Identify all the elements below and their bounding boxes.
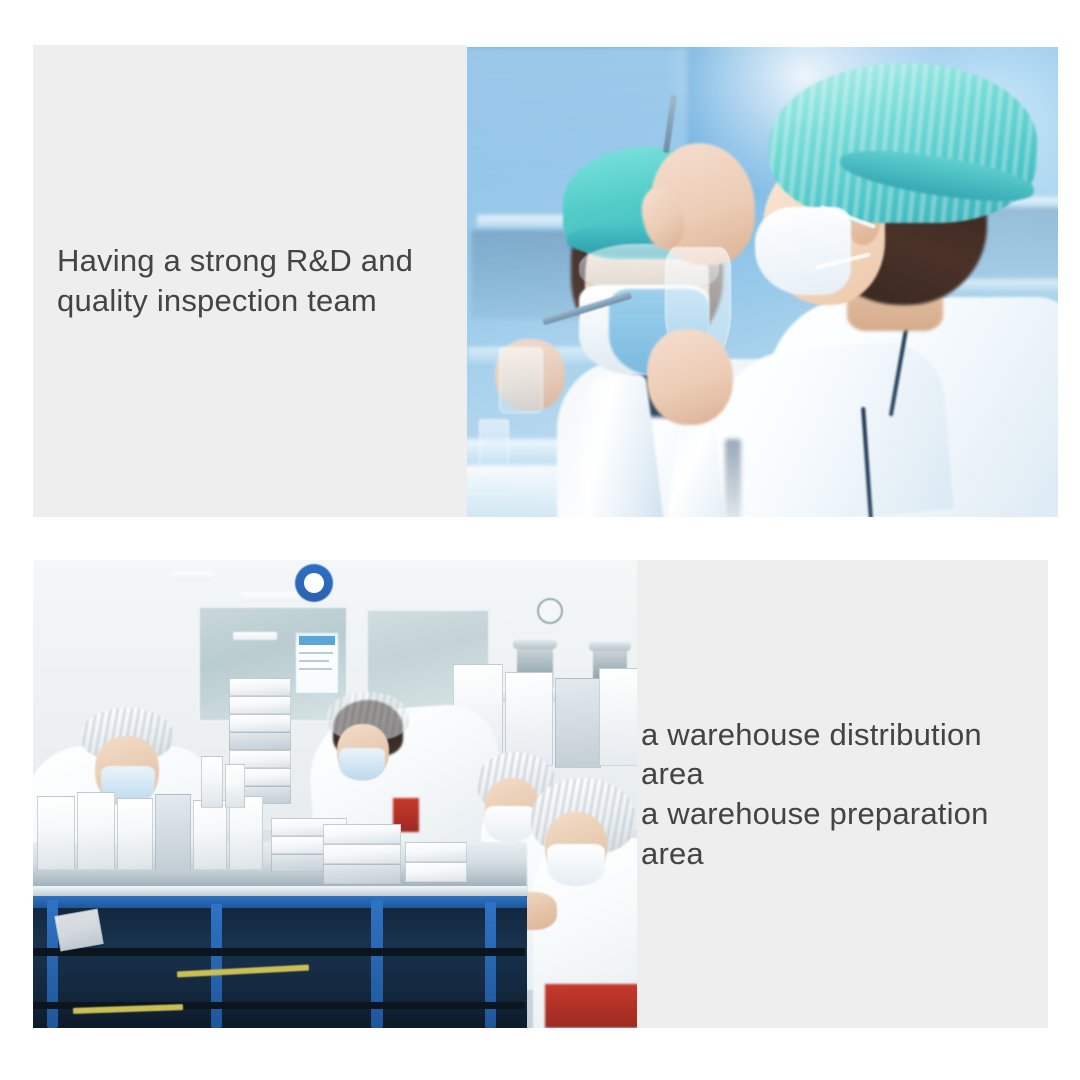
banner-page: Having a strong R&D and quality inspecti… (0, 0, 1080, 1080)
trolley-cross-bar (33, 948, 525, 956)
lab-stand-right (725, 439, 741, 517)
table-bottle-2 (225, 764, 245, 808)
wall-notice-line-1 (299, 652, 333, 654)
lab-beaker-held (499, 347, 543, 413)
table-box-flat-6 (323, 864, 401, 884)
trolley-frame-post-2 (211, 904, 222, 1028)
technician-b-mask (755, 207, 851, 295)
packer-2-mask (339, 748, 385, 780)
packer-4-mask (547, 844, 605, 886)
wall-notice-line-3 (299, 668, 332, 670)
table-box-4 (155, 794, 191, 870)
warehouse-packing-photo (33, 560, 637, 1028)
box-stack-bg-3 (229, 714, 291, 732)
lab-inspection-photo (467, 47, 1058, 517)
box-stack-bg-4 (229, 732, 291, 750)
table-paper-slip (54, 908, 104, 951)
table-box-2 (77, 792, 115, 870)
packer-3-mask (485, 806, 535, 842)
table-box-3 (117, 798, 153, 870)
packer-4-red-garment (545, 984, 637, 1028)
wall-clock (537, 598, 563, 624)
bottom-caption-text: a warehouse distribution area a warehous… (637, 715, 1048, 874)
table-bottle-1 (201, 756, 223, 808)
safety-sign-glyph (304, 573, 324, 593)
box-stack-bg-2 (229, 696, 291, 714)
table-box-flat-8 (405, 862, 467, 882)
technician-b-hand-lower (647, 329, 733, 425)
trolley-frame-post-4 (485, 902, 496, 1028)
table-box-5 (193, 800, 227, 870)
table-box-flat-4 (323, 824, 401, 844)
top-caption-text: Having a strong R&D and quality inspecti… (33, 241, 413, 320)
top-caption-panel: Having a strong R&D and quality inspecti… (33, 45, 467, 517)
steel-pot-left-lid (513, 640, 557, 649)
cleanroom-window-light (233, 632, 277, 640)
box-column-right-3 (555, 678, 601, 768)
ceiling-light-3 (173, 572, 213, 580)
bottom-caption-panel: a warehouse distribution area a warehous… (637, 560, 1048, 1028)
box-column-right-4 (599, 668, 637, 766)
table-box-flat-5 (323, 844, 401, 864)
wall-notice-header (299, 636, 335, 645)
trolley-frame-top (33, 896, 527, 908)
lab-beaker-bench (479, 419, 509, 467)
wall-notice-line-2 (299, 660, 329, 662)
box-stack-bg-1 (229, 678, 291, 696)
table-box-flat-7 (405, 842, 467, 862)
table-box-1 (37, 796, 75, 870)
steel-pot-right-lid (589, 642, 631, 651)
